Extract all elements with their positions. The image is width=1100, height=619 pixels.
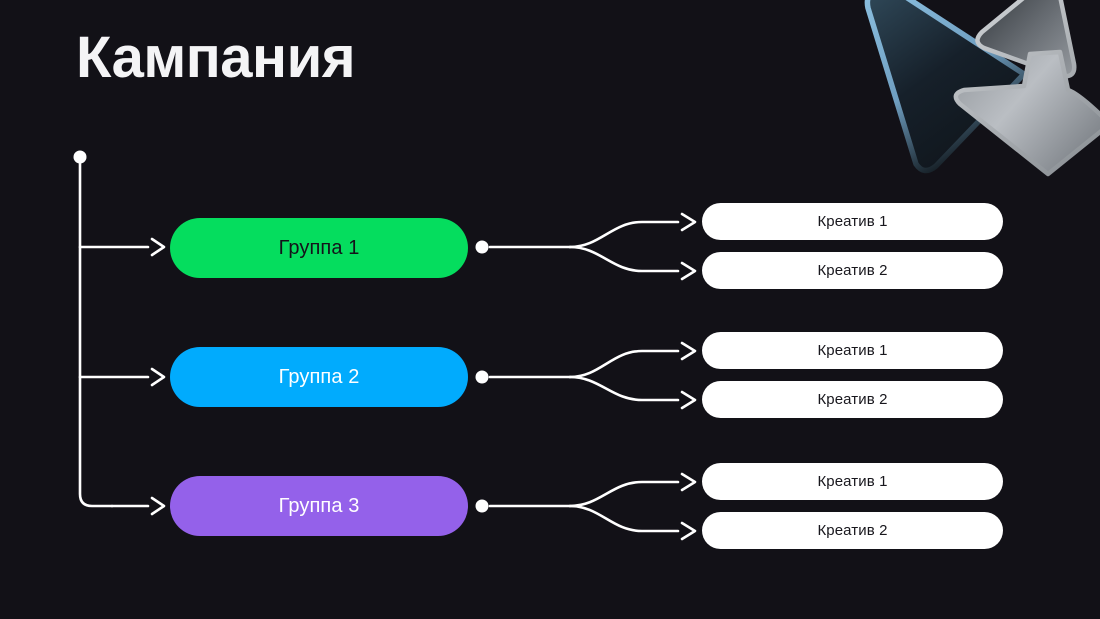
creative-node-1-2-label: Креатив 2 [817, 262, 887, 279]
creative-node-1-1[interactable]: Креатив 1 [702, 203, 1003, 240]
group-node-2-label: Группа 2 [279, 366, 360, 389]
g1-branch-up [570, 222, 678, 247]
arrowhead-g2-creative-2 [682, 392, 695, 408]
creative-node-1-2[interactable]: Креатив 2 [702, 252, 1003, 289]
creative-node-3-1[interactable]: Креатив 1 [702, 463, 1003, 500]
arrowhead-g2-creative-1 [682, 343, 695, 359]
campaign-root-dot [74, 151, 87, 164]
group-node-1[interactable]: Группа 1 [170, 218, 468, 278]
slide-canvas: Кампания [0, 0, 1100, 619]
g3-branch-up [570, 482, 678, 506]
g2-branch-up [570, 351, 678, 377]
creative-node-2-1-label: Креатив 1 [817, 342, 887, 359]
creative-node-2-1[interactable]: Креатив 1 [702, 332, 1003, 369]
arrowhead-g1-creative-2 [682, 263, 695, 279]
group-2-output-dot [476, 371, 489, 384]
g3-branch-down [570, 506, 678, 531]
creative-node-3-2[interactable]: Креатив 2 [702, 512, 1003, 549]
arrowhead-g3-creative-2 [682, 523, 695, 539]
arrowhead-group-3 [152, 498, 164, 514]
arrowhead-g1-creative-1 [682, 214, 695, 230]
creative-node-1-1-label: Креатив 1 [817, 213, 887, 230]
creative-node-2-2-label: Креатив 2 [817, 391, 887, 408]
group-1-output-dot [476, 241, 489, 254]
arrowhead-g3-creative-1 [682, 474, 695, 490]
creative-node-3-2-label: Креатив 2 [817, 522, 887, 539]
trunk-spine [80, 160, 112, 506]
group-node-2[interactable]: Группа 2 [170, 347, 468, 407]
g1-branch-down [570, 247, 678, 271]
arrowhead-group-1 [152, 239, 164, 255]
arrowhead-group-2 [152, 369, 164, 385]
group-3-output-dot [476, 500, 489, 513]
group-node-1-label: Группа 1 [279, 237, 360, 260]
group-node-3-label: Группа 3 [279, 495, 360, 518]
group-node-3[interactable]: Группа 3 [170, 476, 468, 536]
creative-node-2-2[interactable]: Креатив 2 [702, 381, 1003, 418]
g2-branch-down [570, 377, 678, 400]
creative-node-3-1-label: Креатив 1 [817, 473, 887, 490]
